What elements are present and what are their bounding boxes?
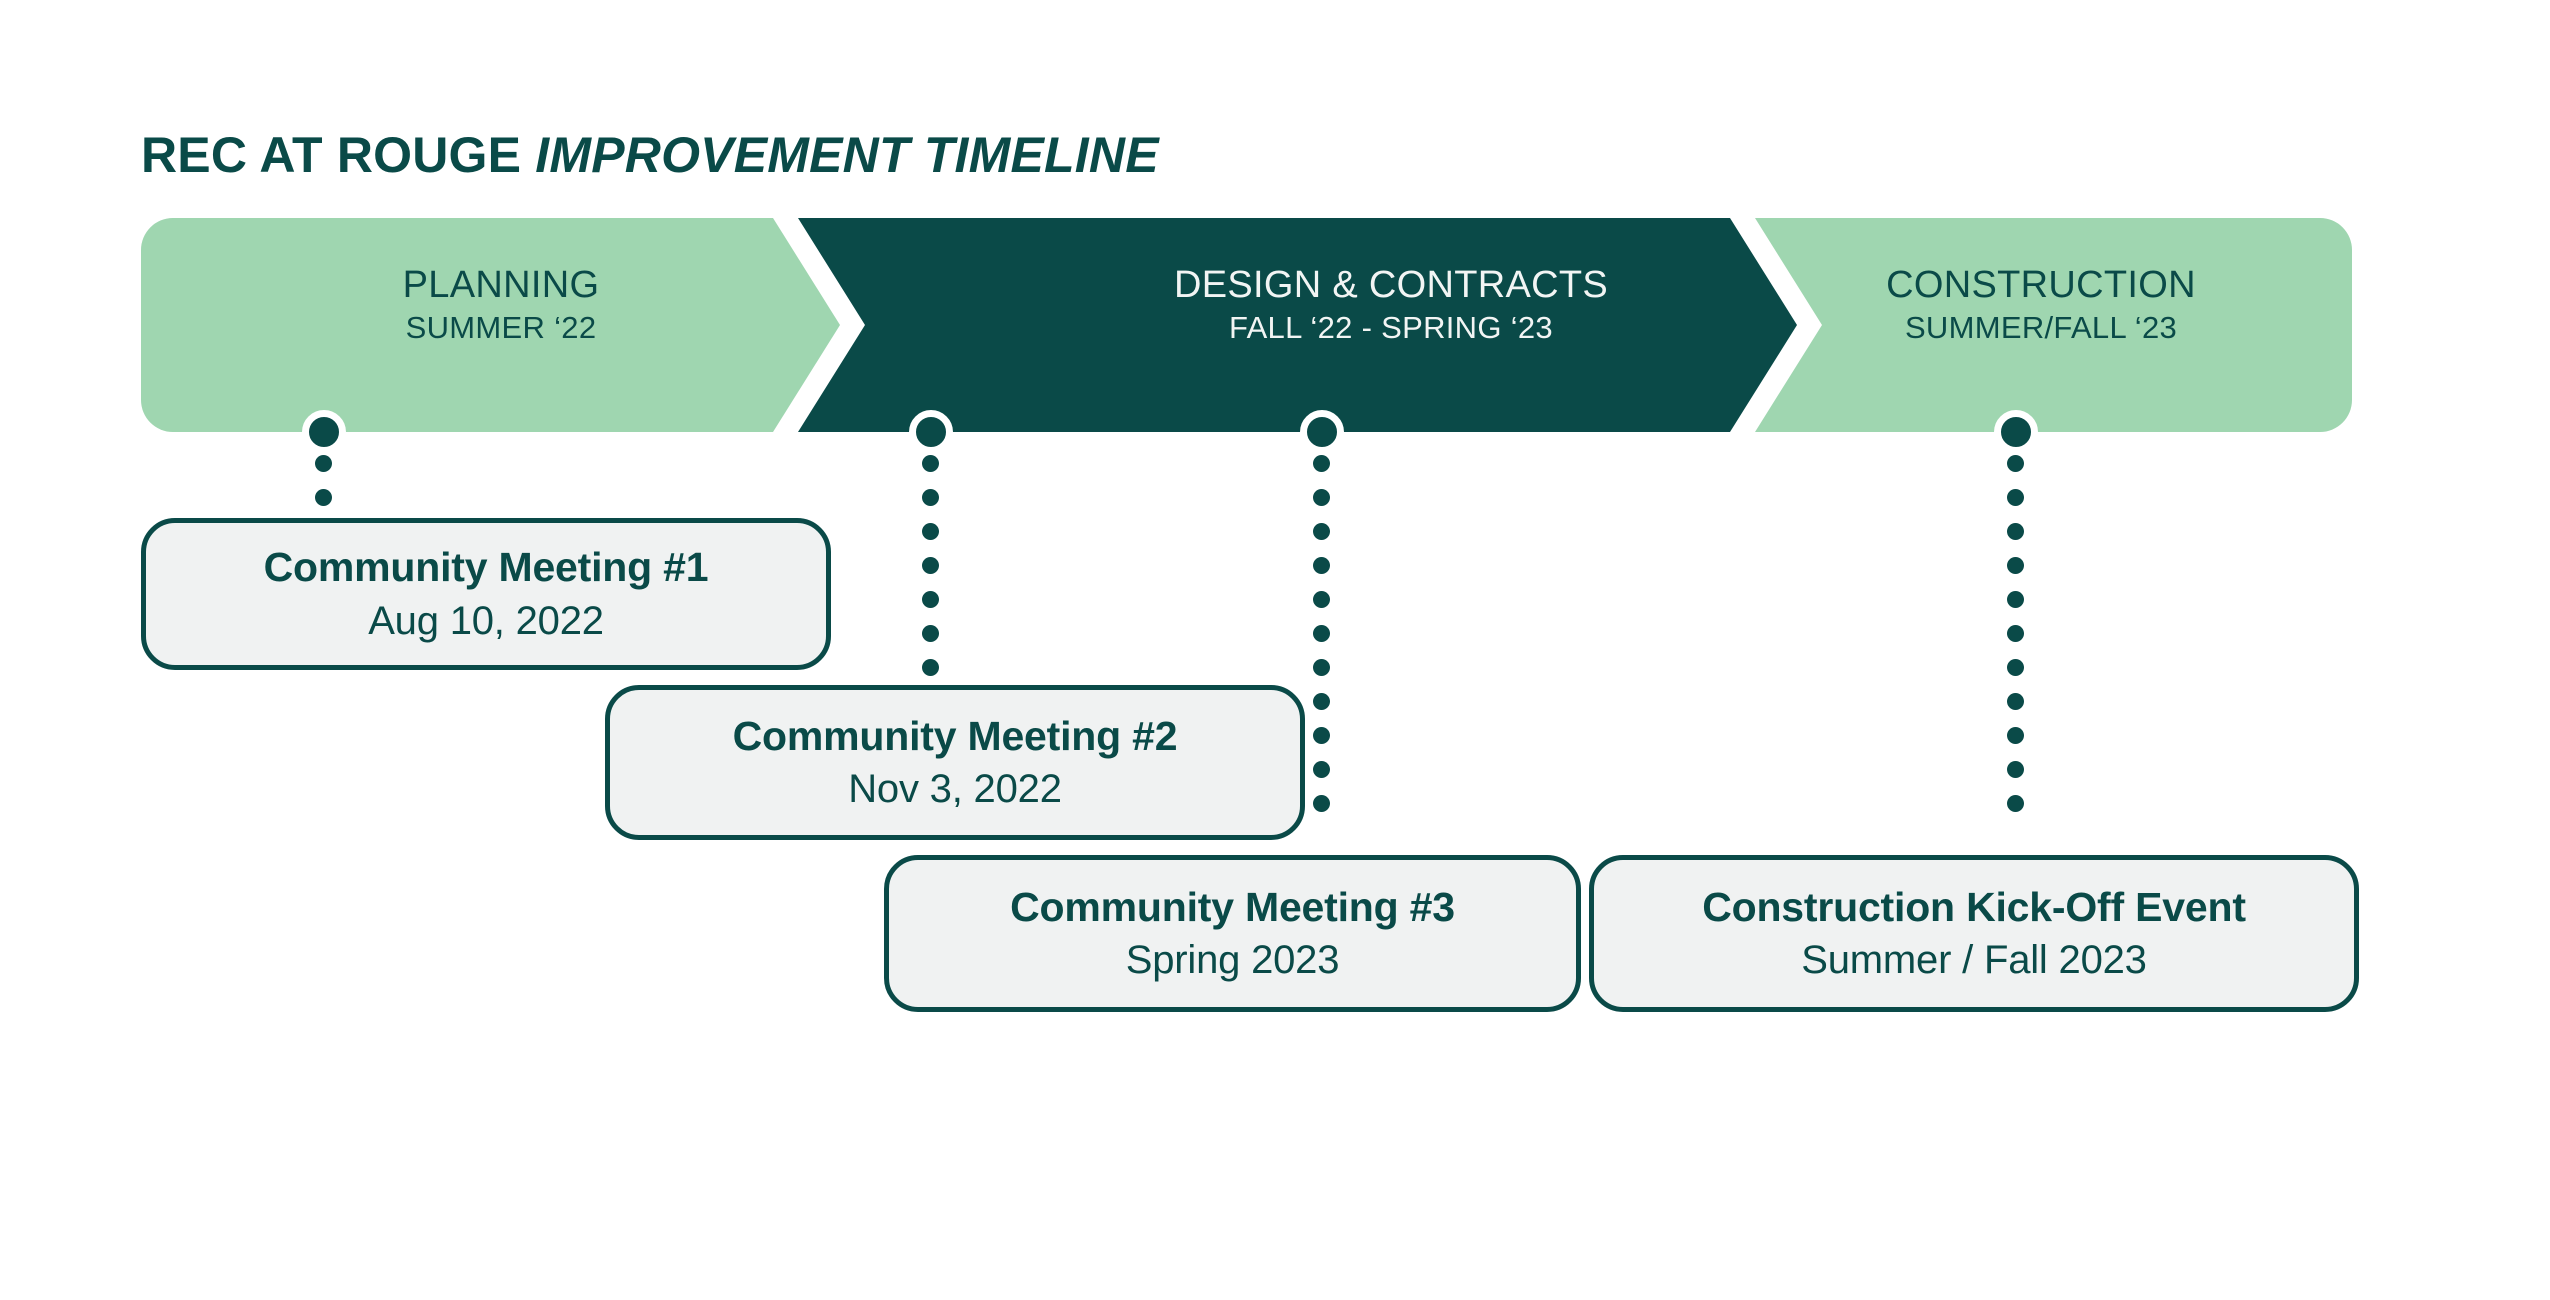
connector-dot (922, 523, 939, 540)
connector-dot (922, 557, 939, 574)
connector-dot (2007, 761, 2024, 778)
page-title-emphasis: IMPROVEMENT TIMELINE (535, 127, 1158, 183)
timeline-node-dot-4[interactable] (1994, 410, 2038, 454)
event-date: Aug 10, 2022 (368, 600, 604, 642)
phase-shape-planning[interactable] (141, 218, 840, 432)
event-box-community-meeting-2[interactable]: Community Meeting #2 Nov 3, 2022 (605, 685, 1305, 840)
connector-dot (922, 455, 939, 472)
timeline-node-dot-2[interactable] (909, 410, 953, 454)
connector-dot (1313, 557, 1330, 574)
connector-dot (922, 489, 939, 506)
connector-dot (315, 489, 332, 506)
event-box-community-meeting-3[interactable]: Community Meeting #3 Spring 2023 (884, 855, 1581, 1012)
timeline-node-dot-1[interactable] (302, 410, 346, 454)
connector-dot (2007, 557, 2024, 574)
phase-shape-design-contracts[interactable] (798, 218, 1797, 432)
connector-dot (922, 659, 939, 676)
connector-dot (315, 455, 332, 472)
connector-line-3 (1313, 455, 1331, 829)
event-date: Summer / Fall 2023 (1801, 939, 2146, 981)
timeline-node-dot-3[interactable] (1300, 410, 1344, 454)
connector-dot (922, 591, 939, 608)
connector-dot (2007, 625, 2024, 642)
event-box-community-meeting-1[interactable]: Community Meeting #1 Aug 10, 2022 (141, 518, 831, 670)
connector-dot (1313, 795, 1330, 812)
connector-dot (1313, 659, 1330, 676)
connector-dot (2007, 693, 2024, 710)
connector-dot (2007, 795, 2024, 812)
phase-banner: PLANNING SUMMER ‘22 DESIGN & CONTRACTS F… (141, 218, 2352, 432)
connector-dot (1313, 591, 1330, 608)
page-title-lead: REC AT ROUGE (141, 127, 521, 183)
connector-dot (1313, 523, 1330, 540)
connector-dot (1313, 693, 1330, 710)
connector-dot (2007, 523, 2024, 540)
event-title: Community Meeting #1 (264, 546, 709, 589)
connector-dot (1313, 761, 1330, 778)
event-title: Community Meeting #2 (733, 715, 1178, 758)
connector-line-2 (922, 455, 940, 693)
connector-dot (1313, 455, 1330, 472)
connector-dot (2007, 727, 2024, 744)
connector-dot (2007, 489, 2024, 506)
connector-dot (2007, 455, 2024, 472)
connector-line-4 (2007, 455, 2025, 829)
phase-banner-shapes (141, 218, 2352, 432)
connector-dot (922, 625, 939, 642)
connector-dot (2007, 591, 2024, 608)
event-title: Construction Kick-Off Event (1702, 886, 2246, 929)
event-date: Nov 3, 2022 (848, 768, 1062, 810)
connector-line-1 (315, 455, 333, 523)
event-date: Spring 2023 (1126, 939, 1340, 981)
connector-dot (1313, 727, 1330, 744)
phase-shape-construction[interactable] (1755, 218, 2352, 432)
page-title: REC AT ROUGE IMPROVEMENT TIMELINE (141, 126, 1159, 184)
event-title: Community Meeting #3 (1010, 886, 1455, 929)
connector-dot (1313, 625, 1330, 642)
connector-dot (2007, 659, 2024, 676)
event-box-construction-kick-off[interactable]: Construction Kick-Off Event Summer / Fal… (1589, 855, 2359, 1012)
connector-dot (1313, 489, 1330, 506)
